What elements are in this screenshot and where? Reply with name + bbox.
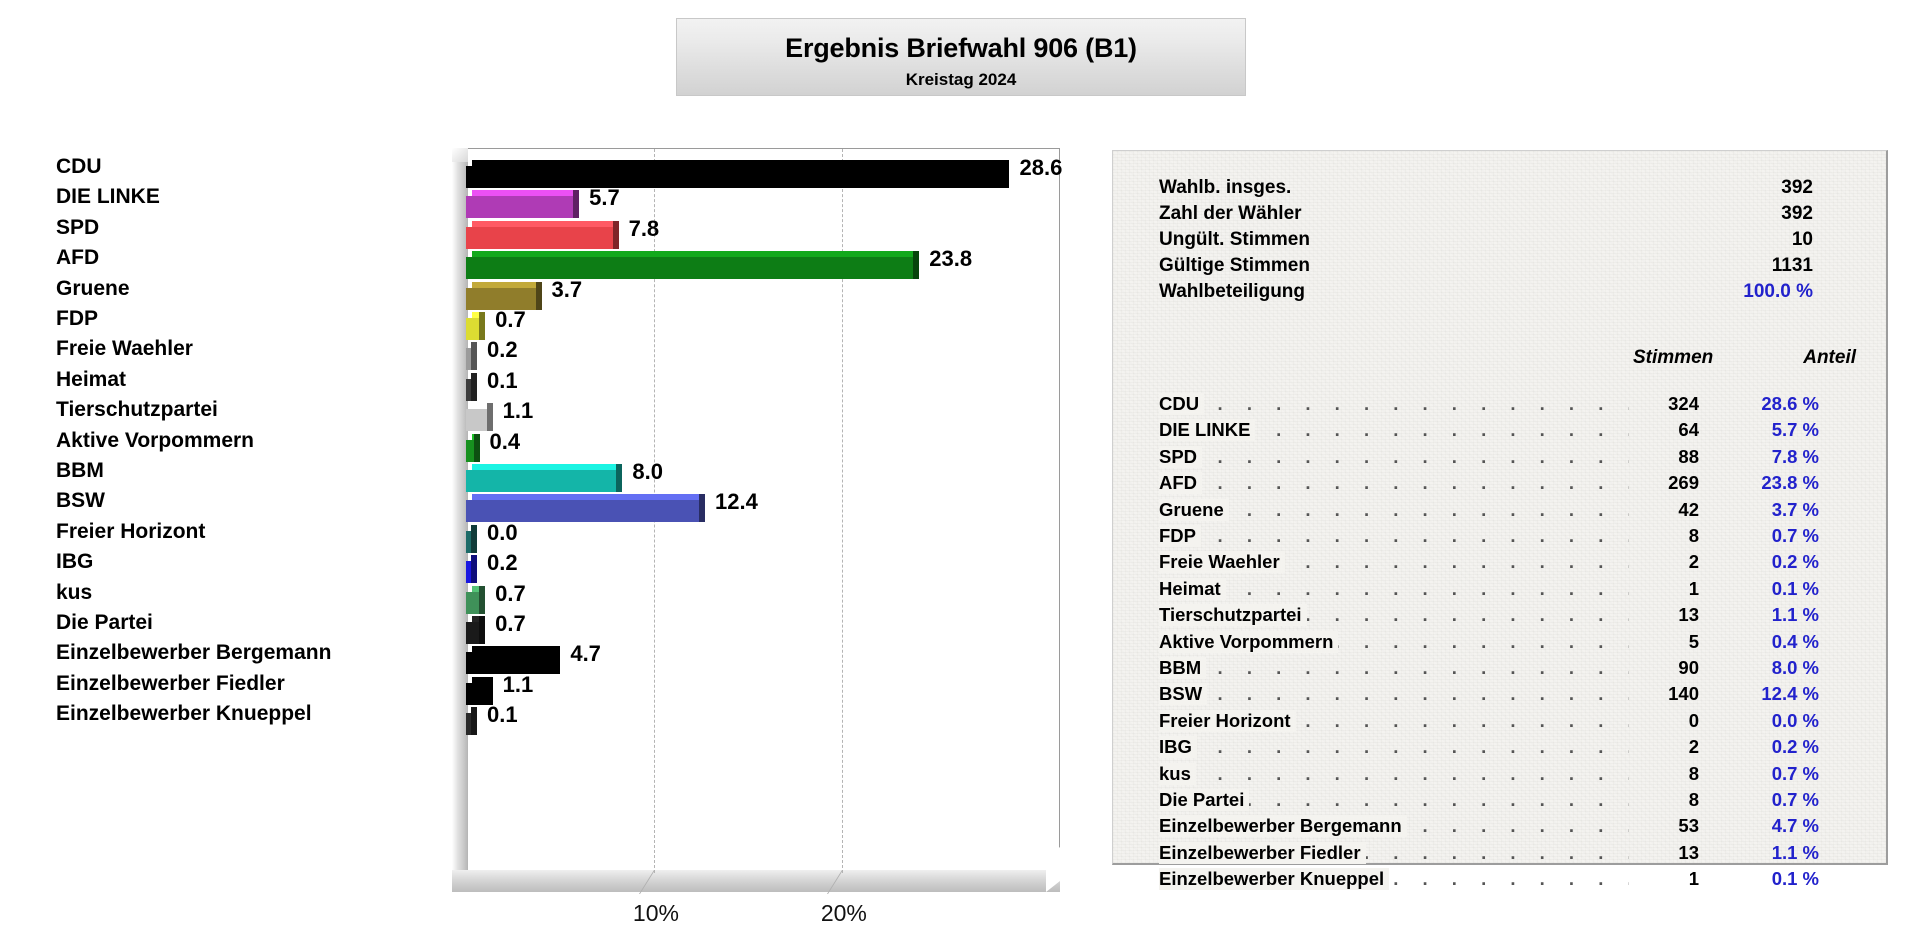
category-label: BBM	[0, 456, 412, 486]
bar-row: 12.4	[452, 486, 1060, 516]
bar[interactable]	[466, 434, 474, 456]
summary-row: Gültige Stimmen1131	[1159, 255, 1849, 279]
category-label: Heimat	[0, 365, 412, 395]
category-label: DIE LINKE	[0, 182, 412, 212]
table-row[interactable]: . . . . . . . . . . . . . . . . . . . . …	[1159, 763, 1849, 785]
party-votes: 13	[1579, 842, 1699, 864]
party-votes: 140	[1579, 683, 1699, 705]
summary-row: Zahl der Wähler392	[1159, 203, 1849, 227]
party-name: IBG	[1159, 736, 1197, 758]
table-row[interactable]: . . . . . . . . . . . . . . . . . . . . …	[1159, 472, 1849, 494]
party-share: 0.0 %	[1772, 710, 1819, 732]
party-share: 0.7 %	[1772, 525, 1819, 547]
summary-value: 392	[1781, 177, 1813, 199]
bar-value-label: 3.7	[552, 277, 583, 303]
bar-value-label: 12.4	[715, 489, 758, 515]
party-share: 1.1 %	[1772, 842, 1819, 864]
table-row[interactable]: . . . . . . . . . . . . . . . . . . . . …	[1159, 499, 1849, 521]
bar[interactable]	[466, 646, 554, 668]
summary-value: 1131	[1772, 255, 1813, 277]
table-row[interactable]: . . . . . . . . . . . . . . . . . . . . …	[1159, 393, 1849, 415]
party-name: BBM	[1159, 657, 1206, 679]
summary-value: 392	[1781, 203, 1813, 225]
party-name: Gruene	[1159, 499, 1229, 521]
party-name: Einzelbewerber Knueppel	[1159, 868, 1389, 890]
bar-value-label: 0.1	[487, 702, 518, 728]
summary-row: Wahlbeteiligung100.0 %	[1159, 281, 1849, 305]
bar-row: 0.4	[452, 426, 1060, 456]
summary-row: Ungült. Stimmen10	[1159, 229, 1849, 253]
category-label: Freie Waehler	[0, 334, 412, 364]
summary-label: Ungült. Stimmen	[1159, 229, 1310, 251]
bar[interactable]	[466, 677, 487, 699]
party-votes: 13	[1579, 604, 1699, 626]
bar-side-face	[471, 707, 477, 735]
category-label: CDU	[0, 152, 412, 182]
bar[interactable]	[466, 282, 536, 304]
bar-row: 1.1	[452, 395, 1060, 425]
category-label: Gruene	[0, 274, 412, 304]
bar-value-label: 7.8	[629, 216, 660, 242]
party-votes: 0	[1579, 710, 1699, 732]
party-name: SPD	[1159, 446, 1202, 468]
bar[interactable]	[466, 190, 573, 212]
table-row[interactable]: . . . . . . . . . . . . . . . . . . . . …	[1159, 578, 1849, 600]
bar-value-label: 0.2	[487, 337, 518, 363]
party-votes: 8	[1579, 525, 1699, 547]
table-row[interactable]: . . . . . . . . . . . . . . . . . . . . …	[1159, 551, 1849, 573]
party-votes: 8	[1579, 763, 1699, 785]
bar-value-label: 8.0	[632, 459, 663, 485]
page-title: Ergebnis Briefwahl 906 (B1)	[677, 33, 1245, 64]
bar-value-label: 0.1	[487, 368, 518, 394]
party-votes: 2	[1579, 551, 1699, 573]
party-votes: 324	[1579, 393, 1699, 415]
party-votes: 1	[1579, 578, 1699, 600]
bar-value-label: 23.8	[929, 246, 972, 272]
summary-label: Gültige Stimmen	[1159, 255, 1310, 277]
party-name: AFD	[1159, 472, 1202, 494]
table-row[interactable]: . . . . . . . . . . . . . . . . . . . . …	[1159, 683, 1849, 705]
category-axis-labels: CDUDIE LINKESPDAFDGrueneFDPFreie Waehler…	[0, 148, 420, 870]
bar-row: 0.7	[452, 578, 1060, 608]
bar-row: 1.1	[452, 669, 1060, 699]
party-share: 0.1 %	[1772, 868, 1819, 890]
bar-row: 28.6	[452, 152, 1060, 182]
table-row[interactable]: . . . . . . . . . . . . . . . . . . . . …	[1159, 868, 1849, 890]
bar[interactable]	[466, 616, 479, 638]
party-share: 3.7 %	[1772, 499, 1819, 521]
summary-value: 10	[1792, 229, 1813, 251]
leader-dots: . . . . . . . . . . . . . . . . . . . . …	[1159, 736, 1629, 758]
party-share: 0.2 %	[1772, 736, 1819, 758]
category-label: AFD	[0, 243, 412, 273]
bar-row: 0.2	[452, 334, 1060, 364]
bar[interactable]	[466, 373, 471, 395]
leader-dots: . . . . . . . . . . . . . . . . . . . . …	[1159, 446, 1629, 468]
category-label: kus	[0, 578, 412, 608]
bar[interactable]	[466, 251, 913, 273]
leader-dots: . . . . . . . . . . . . . . . . . . . . …	[1159, 499, 1629, 521]
bar-row: 0.7	[452, 608, 1060, 638]
party-name: FDP	[1159, 525, 1201, 547]
category-label: Einzelbewerber Fiedler	[0, 669, 412, 699]
bar[interactable]	[466, 555, 471, 577]
party-share: 0.4 %	[1772, 631, 1819, 653]
party-name: Einzelbewerber Bergemann	[1159, 815, 1407, 837]
bar[interactable]	[466, 403, 487, 425]
bar[interactable]	[466, 312, 479, 334]
party-name: Freie Waehler	[1159, 551, 1285, 573]
category-label: BSW	[0, 486, 412, 516]
column-header-share: Anteil	[1803, 347, 1856, 369]
party-votes: 42	[1579, 499, 1699, 521]
category-label: Tierschutzpartei	[0, 395, 412, 425]
party-share: 5.7 %	[1772, 419, 1819, 441]
bar-row: 0.1	[452, 365, 1060, 395]
party-votes: 1	[1579, 868, 1699, 890]
category-label: Einzelbewerber Bergemann	[0, 638, 412, 668]
bar[interactable]	[466, 586, 479, 608]
party-share: 1.1 %	[1772, 604, 1819, 626]
category-label: Einzelbewerber Knueppel	[0, 699, 412, 729]
party-name: kus	[1159, 763, 1196, 785]
party-share: 4.7 %	[1772, 815, 1819, 837]
bar-row: 7.8	[452, 213, 1060, 243]
party-name: Heimat	[1159, 578, 1226, 600]
bar[interactable]	[466, 494, 699, 516]
category-label: IBG	[0, 547, 412, 577]
bar-row: 5.7	[452, 182, 1060, 212]
party-name: BSW	[1159, 683, 1207, 705]
bar-value-label: 0.7	[495, 611, 526, 637]
bar-row: 0.0	[452, 517, 1060, 547]
party-share: 12.4 %	[1761, 683, 1819, 705]
party-name: Einzelbewerber Fiedler	[1159, 842, 1366, 864]
table-row[interactable]: . . . . . . . . . . . . . . . . . . . . …	[1159, 446, 1849, 468]
bar-row: 0.1	[452, 699, 1060, 729]
bar-value-label: 0.7	[495, 581, 526, 607]
bar-value-label: 0.4	[490, 429, 521, 455]
table-row[interactable]: . . . . . . . . . . . . . . . . . . . . …	[1159, 710, 1849, 732]
table-row[interactable]: . . . . . . . . . . . . . . . . . . . . …	[1159, 604, 1849, 626]
party-share: 0.7 %	[1772, 763, 1819, 785]
table-row[interactable]: . . . . . . . . . . . . . . . . . . . . …	[1159, 842, 1849, 864]
bar-chart: CDUDIE LINKESPDAFDGrueneFDPFreie Waehler…	[0, 148, 1060, 908]
summary-row: Wahlb. insges.392	[1159, 177, 1849, 201]
party-votes: 2	[1579, 736, 1699, 758]
x-tick-label: 10%	[633, 900, 679, 927]
party-share: 8.0 %	[1772, 657, 1819, 679]
bar[interactable]	[466, 707, 471, 729]
table-row[interactable]: . . . . . . . . . . . . . . . . . . . . …	[1159, 815, 1849, 837]
table-row[interactable]: . . . . . . . . . . . . . . . . . . . . …	[1159, 657, 1849, 679]
leader-dots: . . . . . . . . . . . . . . . . . . . . …	[1159, 472, 1629, 494]
category-label: Aktive Vorpommern	[0, 426, 412, 456]
leader-dots: . . . . . . . . . . . . . . . . . . . . …	[1159, 393, 1629, 415]
bar-row: 0.7	[452, 304, 1060, 334]
party-votes: 90	[1579, 657, 1699, 679]
results-panel: Wahlb. insges.392Zahl der Wähler392Ungül…	[1112, 150, 1888, 865]
party-votes: 64	[1579, 419, 1699, 441]
party-name: Freier Horizont	[1159, 710, 1296, 732]
bar-row: 3.7	[452, 274, 1060, 304]
bar[interactable]	[466, 221, 613, 243]
category-label: Freier Horizont	[0, 517, 412, 547]
category-label: FDP	[0, 304, 412, 334]
party-votes: 5	[1579, 631, 1699, 653]
leader-dots: . . . . . . . . . . . . . . . . . . . . …	[1159, 683, 1629, 705]
summary-label: Wahlbeteiligung	[1159, 281, 1305, 303]
party-name: Aktive Vorpommern	[1159, 631, 1338, 653]
party-votes: 269	[1579, 472, 1699, 494]
leader-dots: . . . . . . . . . . . . . . . . . . . . …	[1159, 525, 1629, 547]
bar-row: 4.7	[452, 638, 1060, 668]
bar-value-label: 28.6	[1019, 155, 1062, 181]
party-name: CDU	[1159, 393, 1204, 415]
party-votes: 8	[1579, 789, 1699, 811]
bar-value-label: 4.7	[570, 641, 601, 667]
page-subtitle: Kreistag 2024	[677, 70, 1245, 90]
table-row[interactable]: . . . . . . . . . . . . . . . . . . . . …	[1159, 419, 1849, 441]
bar[interactable]	[466, 160, 1003, 182]
party-votes: 53	[1579, 815, 1699, 837]
bar-value-label: 0.2	[487, 550, 518, 576]
bar-value-label: 1.1	[503, 398, 534, 424]
bar-value-label: 1.1	[503, 672, 534, 698]
bar-value-label: 5.7	[589, 185, 620, 211]
party-name: Die Partei	[1159, 789, 1249, 811]
bar[interactable]	[466, 525, 471, 547]
leader-dots: . . . . . . . . . . . . . . . . . . . . …	[1159, 657, 1629, 679]
bar-row: 0.2	[452, 547, 1060, 577]
party-share: 0.1 %	[1772, 578, 1819, 600]
category-label: Die Partei	[0, 608, 412, 638]
bar[interactable]	[466, 464, 616, 486]
table-row[interactable]: . . . . . . . . . . . . . . . . . . . . …	[1159, 631, 1849, 653]
bar-value-label: 0.0	[487, 520, 518, 546]
party-share: 0.2 %	[1772, 551, 1819, 573]
bar-row: 23.8	[452, 243, 1060, 273]
bar-value-label: 0.7	[495, 307, 526, 333]
x-tick-label: 20%	[821, 900, 867, 927]
party-name: Tierschutzpartei	[1159, 604, 1307, 626]
bar[interactable]	[466, 342, 471, 364]
party-votes: 88	[1579, 446, 1699, 468]
plot-area: 28.65.77.823.83.70.70.20.11.10.48.012.40…	[452, 148, 1060, 893]
bar-row: 8.0	[452, 456, 1060, 486]
leader-dots: . . . . . . . . . . . . . . . . . . . . …	[1159, 763, 1629, 785]
column-header-votes: Stimmen	[1633, 347, 1713, 369]
leader-dots: . . . . . . . . . . . . . . . . . . . . …	[1159, 578, 1629, 600]
summary-label: Zahl der Wähler	[1159, 203, 1302, 225]
party-share: 7.8 %	[1772, 446, 1819, 468]
table-row[interactable]: . . . . . . . . . . . . . . . . . . . . …	[1159, 525, 1849, 547]
party-share: 23.8 %	[1761, 472, 1819, 494]
chart-title-box: Ergebnis Briefwahl 906 (B1) Kreistag 202…	[676, 18, 1246, 96]
plot-floor	[452, 870, 1060, 892]
summary-value: 100.0 %	[1743, 281, 1813, 303]
party-name: DIE LINKE	[1159, 419, 1255, 441]
table-row[interactable]: . . . . . . . . . . . . . . . . . . . . …	[1159, 736, 1849, 758]
party-share: 28.6 %	[1761, 393, 1819, 415]
category-label: SPD	[0, 213, 412, 243]
table-row[interactable]: . . . . . . . . . . . . . . . . . . . . …	[1159, 789, 1849, 811]
party-share: 0.7 %	[1772, 789, 1819, 811]
summary-label: Wahlb. insges.	[1159, 177, 1291, 199]
